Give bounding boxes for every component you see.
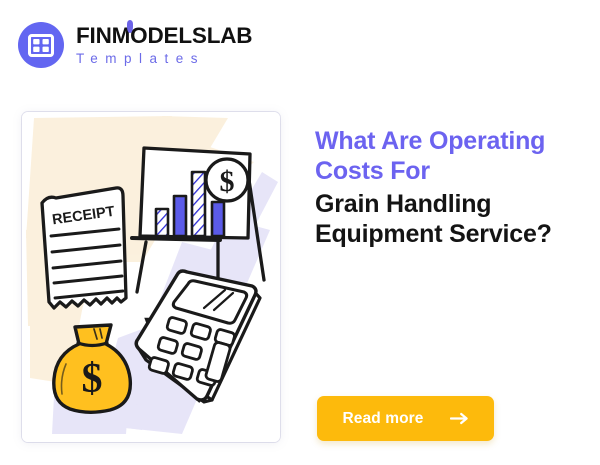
bar-3 [192,172,205,236]
brand-wordmark: FINMODELSLAB [76,25,252,48]
calculator-key [190,323,211,340]
bar-2 [174,196,186,236]
brand-wordmark-group: FINMODELSLAB Templates [76,25,252,66]
operating-costs-comparison-illustration: $ RECEIPT $ VS [22,112,280,442]
calculator-key [181,343,202,360]
calculator-key [172,363,193,380]
read-more-button[interactable]: Read more [317,396,494,441]
calculator-key [148,357,169,374]
map-pin-icon [127,20,133,33]
headline-accent-line: What Are Operating Costs For [315,126,587,187]
dollar-coin-icon: $ [206,159,248,201]
receipt: RECEIPT [42,188,126,308]
content-column: What Are Operating Costs For Grain Handl… [315,126,587,249]
money-bag-dollar-sign: $ [82,356,103,402]
grid-squares-icon [28,34,54,57]
brand-header[interactable]: FINMODELSLAB Templates [18,22,252,68]
bar-1 [156,209,168,236]
brand-wordmark-text: FINMODELSLAB [76,23,252,48]
read-more-label: Read more [342,410,423,428]
illustration-card: $ RECEIPT $ VS [22,112,280,442]
svg-text:$: $ [220,165,235,198]
arrow-right-icon [450,412,469,425]
calculator-key [157,337,178,354]
page-title: Grain Handling Equipment Service? [315,189,587,250]
brand-logo-mark[interactable] [18,22,64,68]
bar-4 [212,202,224,236]
brand-subwordmark: Templates [76,52,252,66]
calculator-key [166,317,187,334]
